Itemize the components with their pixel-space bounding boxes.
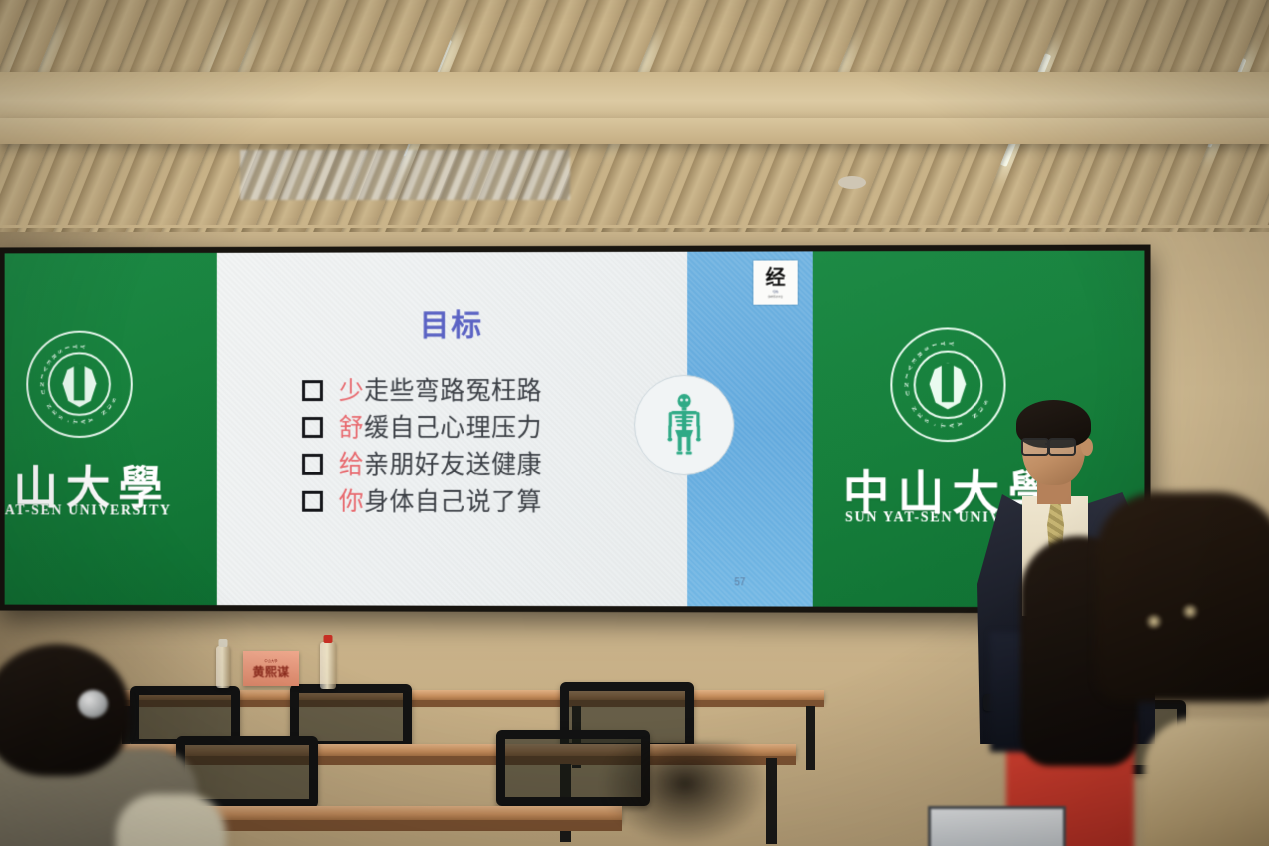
- seal-ring-char: Y: [947, 341, 954, 346]
- audience-member-right: [1096, 492, 1269, 846]
- seal-ring-char: A: [950, 423, 956, 428]
- checkbox-icon[interactable]: [302, 417, 323, 438]
- seal-ring-char: Y: [958, 421, 965, 427]
- slide-content: 经 经络 健康服务平台 目标 少走些弯路冤枉路舒缓自己心理压力给亲朋好友送健康你…: [217, 251, 813, 606]
- slide-bullet-row: 舒缓自己心理压力: [302, 409, 691, 446]
- slide-bullet-text: 少走些弯路冤枉路: [339, 378, 542, 403]
- seal-ring-char: I: [930, 343, 936, 347]
- seal-ring-char: V: [906, 365, 913, 372]
- ceiling-beam-lower: [0, 118, 1269, 144]
- slide-bullet-list: 少走些弯路冤枉路舒缓自己心理压力给亲朋好友送健康你身体自己说了算: [302, 372, 691, 520]
- seal-ring-char: I: [40, 374, 44, 380]
- seal-ring-char: I: [904, 374, 908, 380]
- name-card-name: 黄熙谋: [252, 663, 289, 680]
- seal-ring-char: U: [905, 391, 910, 398]
- seal-ring-char: S: [58, 415, 65, 421]
- ceiling-duct: [240, 150, 570, 200]
- partner-logo-line1: 经络: [773, 289, 779, 293]
- seal-ring-char: N: [101, 408, 108, 415]
- slide-bullet-text: 给亲朋好友送健康: [339, 452, 542, 477]
- seal-ring-char: T: [941, 423, 948, 428]
- seal-ring-char: E: [45, 360, 52, 367]
- seal-ring-char: R: [916, 351, 923, 358]
- slide-bullet-rest: 走些弯路冤枉路: [364, 376, 542, 405]
- seal-ring-char: S: [56, 349, 63, 355]
- lecture-hall-photo: SUN YAT-SEN UNIVERSITY 中山大學 SUN YAT-SEN …: [0, 0, 1269, 846]
- partner-logo-glyph: 经: [765, 267, 785, 287]
- seal-ring-char: U: [41, 390, 46, 397]
- partner-logo-line2: 健康服务平台: [768, 294, 783, 298]
- water-bottle-right: [320, 642, 336, 689]
- audience-coat: [1144, 718, 1269, 846]
- seal-ring-char: V: [42, 367, 48, 374]
- slide-bullet-rest: 身体自己说了算: [364, 487, 542, 516]
- seal-ring-char: I: [63, 346, 69, 350]
- seal-ring-char: T: [73, 420, 79, 425]
- seal-ring-char: A: [81, 419, 87, 424]
- slide-bullet-rest: 亲朋好友送健康: [364, 450, 542, 479]
- brand-panel-left: SUN YAT-SEN UNIVERSITY 中山大學 SUN YAT-SEN …: [5, 253, 217, 605]
- slide-bullet-lead: 你: [339, 487, 364, 516]
- skeleton-body-icon: [634, 375, 734, 475]
- projector-stand: [600, 742, 770, 846]
- checkbox-icon[interactable]: [302, 380, 323, 401]
- ceiling-speaker: [838, 176, 866, 189]
- university-seal-left: SUN YAT-SEN UNIVERSITY: [26, 331, 133, 438]
- presenter-glasses-left: [1021, 438, 1049, 456]
- presenter-glasses-bridge: [1045, 443, 1050, 445]
- slide-bullet-text: 你身体自己说了算: [339, 489, 542, 514]
- name-card: 中山大學 黄熙谋: [243, 651, 299, 686]
- seal-ring-char: N: [40, 382, 45, 388]
- seal-ring-char: R: [50, 354, 57, 361]
- slide-bullet-row: 少走些弯路冤枉路: [302, 372, 691, 409]
- audience-glasses: [78, 690, 108, 718]
- audience-member-left: [0, 644, 212, 846]
- slide-bullet-row: 给亲朋好友送健康: [302, 446, 691, 483]
- seal-ring-char: T: [939, 342, 945, 346]
- skeleton-body-glyph: [662, 394, 706, 456]
- projection-screen[interactable]: SUN YAT-SEN UNIVERSITY 中山大學 SUN YAT-SEN …: [5, 251, 1145, 608]
- slide-bullet-lead: 舒: [339, 413, 364, 442]
- slide-bullet-rest: 缓自己心理压力: [364, 413, 542, 442]
- seal-ring-char: T: [71, 345, 77, 349]
- seal-ring-char: E: [917, 412, 924, 419]
- presenter-glasses-right: [1048, 438, 1076, 456]
- laptop[interactable]: [928, 806, 1066, 846]
- seal-ring-char: N: [911, 406, 918, 413]
- slide-bullet-row: 你身体自己说了算: [302, 483, 691, 520]
- slide-bullet-lead: 少: [339, 376, 364, 405]
- water-bottle-left: [216, 646, 230, 688]
- slide-bullet-text: 舒缓自己心理压力: [339, 415, 542, 440]
- checkbox-icon[interactable]: [302, 454, 323, 475]
- slide-title: 目标: [217, 300, 687, 345]
- seal-ring-char: S: [924, 418, 931, 424]
- seal-ring-char: S: [111, 396, 117, 403]
- slide-bullet-lead: 给: [339, 450, 364, 479]
- seal-ring-char: -: [932, 423, 938, 427]
- checkbox-icon[interactable]: [302, 491, 323, 512]
- seal-ring-char: Y: [79, 344, 85, 349]
- seal-ring-char: U: [106, 402, 113, 409]
- seal-ring-char: Y: [88, 417, 95, 423]
- seal-ring-char: N: [904, 383, 909, 389]
- brand-name-en-left: SUN YAT-SEN UNIVERSITY: [5, 503, 172, 519]
- partner-logo: 经 经络 健康服务平台: [753, 260, 797, 304]
- seal-ring-char: E: [52, 410, 59, 417]
- seal-ring-char: -: [65, 419, 71, 423]
- seal-ring-char: E: [910, 358, 917, 365]
- slide-page-number: 57: [734, 577, 745, 588]
- seal-ring-char: S: [922, 347, 929, 353]
- ceiling: [0, 0, 1269, 250]
